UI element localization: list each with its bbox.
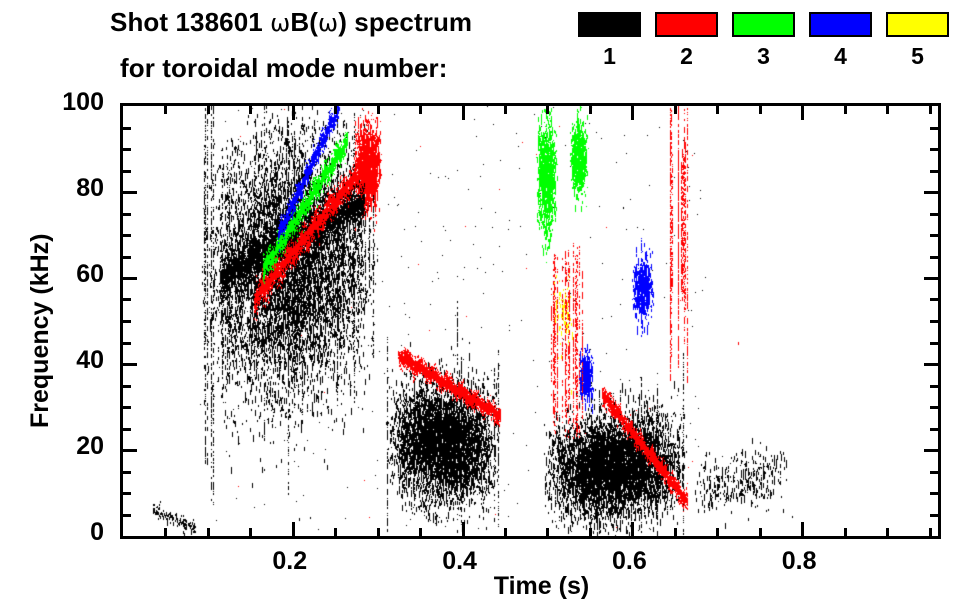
y-tick-right: [930, 213, 938, 216]
y-tick-left: [123, 492, 131, 495]
y-tick-label-80: 80: [24, 174, 104, 203]
y-tick-left: [123, 234, 131, 237]
y-tick-left: [123, 385, 131, 388]
x-tick-bottom: [164, 528, 167, 536]
omega-symbol-2: ω: [318, 9, 338, 37]
legend-swatch-3: [732, 12, 795, 37]
x-tick-bottom: [377, 528, 380, 536]
y-tick-label-40: 40: [24, 346, 104, 375]
figure-root: Shot 138601 ωB(ω) spectrum for toroidal …: [0, 0, 963, 615]
legend-swatch-4: [809, 12, 872, 37]
x-tick-top: [419, 106, 422, 114]
x-tick-bottom: [546, 528, 549, 536]
x-tick-top: [377, 106, 380, 114]
y-tick-left: [123, 148, 131, 151]
y-tick-left: [123, 514, 131, 517]
title-mid: B(: [290, 7, 318, 37]
x-tick-top: [164, 106, 167, 114]
spectrogram-plot: [123, 106, 938, 536]
y-tick-left: [123, 342, 131, 345]
y-tick-right: [930, 471, 938, 474]
x-tick-bottom: [929, 528, 932, 536]
y-tick-right: [930, 148, 938, 151]
y-tick-right: [924, 191, 938, 194]
x-tick-top: [716, 106, 719, 114]
y-tick-right: [930, 234, 938, 237]
y-tick-left: [123, 256, 131, 259]
y-tick-left: [123, 363, 137, 366]
x-tick-bottom: [462, 522, 465, 536]
y-tick-left: [123, 191, 137, 194]
x-tick-top: [844, 106, 847, 114]
y-tick-right: [924, 363, 938, 366]
x-tick-label-0.6: 0.6: [584, 547, 674, 576]
x-tick-bottom: [759, 528, 762, 536]
legend-item-3: 3: [732, 12, 795, 68]
y-tick-right: [930, 406, 938, 409]
y-tick-left: [123, 406, 131, 409]
y-tick-left: [123, 170, 131, 173]
y-tick-right: [930, 298, 938, 301]
y-tick-label-60: 60: [24, 260, 104, 289]
x-tick-top: [504, 106, 507, 114]
x-tick-top: [249, 106, 252, 114]
legend-label-3: 3: [732, 45, 795, 68]
figure-title-line-2: for toroidal mode number:: [120, 53, 448, 84]
x-tick-top: [589, 106, 592, 114]
x-tick-label-0.2: 0.2: [245, 547, 335, 576]
legend-swatch-2: [655, 12, 718, 37]
x-tick-bottom: [504, 528, 507, 536]
x-tick-top: [674, 106, 677, 114]
y-tick-right: [930, 170, 938, 173]
x-tick-bottom: [801, 522, 804, 536]
y-tick-right: [924, 277, 938, 280]
y-tick-right: [930, 385, 938, 388]
y-tick-left: [123, 320, 131, 323]
x-tick-label-0.4: 0.4: [415, 547, 505, 576]
x-tick-top: [631, 106, 634, 120]
legend-item-1: 1: [578, 12, 641, 68]
legend-label-2: 2: [655, 45, 718, 68]
x-tick-top: [207, 106, 210, 114]
x-tick-bottom: [419, 528, 422, 536]
legend: 12345: [578, 0, 963, 96]
legend-label-4: 4: [809, 45, 872, 68]
x-tick-bottom: [631, 522, 634, 536]
x-tick-bottom: [207, 528, 210, 536]
y-tick-left: [123, 471, 131, 474]
x-tick-top: [292, 106, 295, 120]
legend-label-5: 5: [886, 45, 949, 68]
legend-item-2: 2: [655, 12, 718, 68]
x-tick-top: [759, 106, 762, 114]
legend-swatch-5: [886, 12, 949, 37]
x-tick-top: [546, 106, 549, 114]
legend-label-1: 1: [578, 45, 641, 68]
y-tick-right: [930, 492, 938, 495]
x-tick-top: [801, 106, 804, 120]
y-tick-right: [924, 449, 938, 452]
legend-item-4: 4: [809, 12, 872, 68]
y-tick-right: [930, 256, 938, 259]
omega-symbol-1: ω: [270, 9, 290, 37]
figure-header: Shot 138601 ωB(ω) spectrum for toroidal …: [0, 0, 963, 96]
spectrogram-canvas-wrap: [123, 106, 938, 536]
y-tick-left: [123, 277, 137, 280]
legend-item-5: 5: [886, 12, 949, 68]
y-tick-right: [930, 320, 938, 323]
x-axis-title: Time (s): [60, 572, 963, 601]
title-prefix: Shot 138601: [110, 7, 270, 37]
figure-title-line-1: Shot 138601 ωB(ω) spectrum: [110, 7, 472, 38]
x-tick-bottom: [674, 528, 677, 536]
legend-swatch-1: [578, 12, 641, 37]
y-tick-label-100: 100: [24, 88, 104, 117]
plot-frame: [120, 103, 941, 539]
x-tick-bottom: [716, 528, 719, 536]
y-tick-right: [930, 342, 938, 345]
y-tick-label-20: 20: [24, 432, 104, 461]
x-tick-top: [462, 106, 465, 120]
y-tick-right: [930, 428, 938, 431]
title-suffix: ) spectrum: [338, 7, 472, 37]
y-tick-left: [123, 428, 131, 431]
y-tick-left: [123, 127, 131, 130]
x-tick-top: [929, 106, 932, 114]
x-tick-label-0.8: 0.8: [754, 547, 844, 576]
x-tick-bottom: [844, 528, 847, 536]
x-tick-bottom: [589, 528, 592, 536]
y-tick-right: [930, 514, 938, 517]
y-tick-left: [123, 449, 137, 452]
x-tick-top: [334, 106, 337, 114]
x-tick-bottom: [886, 528, 889, 536]
x-tick-bottom: [334, 528, 337, 536]
x-tick-bottom: [249, 528, 252, 536]
y-tick-label-0: 0: [24, 518, 104, 547]
y-tick-right: [930, 127, 938, 130]
y-tick-left: [123, 213, 131, 216]
y-tick-left: [123, 298, 131, 301]
x-tick-top: [886, 106, 889, 114]
x-tick-bottom: [292, 522, 295, 536]
